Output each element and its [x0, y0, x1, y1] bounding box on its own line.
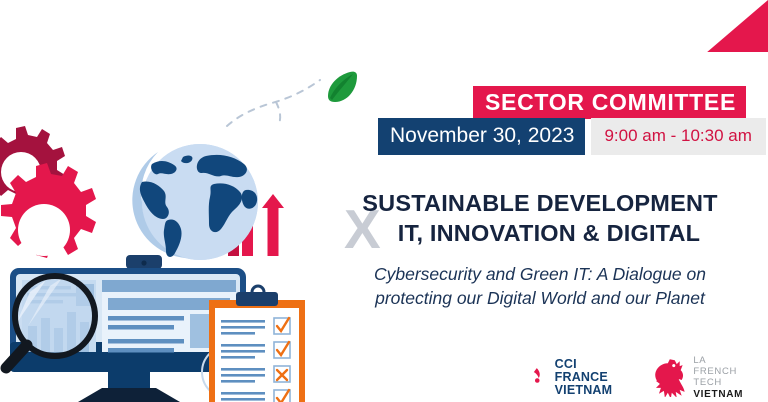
globe-icon	[132, 144, 258, 260]
ft-logo-line-3: VIETNAM	[693, 389, 768, 401]
ft-logo-line-2: FRENCH TECH	[693, 366, 768, 388]
logo-la-french-tech-vietnam: LA FRENCH TECH VIETNAM	[655, 355, 768, 400]
event-time: 9:00 am - 10:30 am	[591, 118, 765, 155]
logo-row: CCI FRANCE VIETNAM LA FRENCH TECH VIETNA…	[518, 355, 768, 400]
sector-committee-label: SECTOR COMMITTEE	[485, 89, 736, 115]
page-title: X SUSTAINABLE DEVELOPMENT IT, INNOVATION…	[330, 188, 750, 248]
cci-c-mark-icon	[518, 363, 548, 393]
rooster-icon	[655, 359, 687, 397]
logo-cci-france-vietnam: CCI FRANCE VIETNAM	[518, 358, 633, 397]
event-datetime: November 30, 2023 9:00 am - 10:30 am	[378, 118, 766, 155]
event-date: November 30, 2023	[378, 118, 585, 155]
corner-wedge-icon	[688, 0, 768, 52]
event-banner: SECTOR COMMITTEE November 30, 2023 9:00 …	[0, 0, 768, 402]
cci-logo-line-2: VIETNAM	[555, 384, 633, 397]
subtitle-line-1: Cybersecurity and Green IT: A Dialogue o…	[330, 262, 750, 286]
clipboard-checklist-icon	[202, 286, 305, 402]
cci-logo-line-1: CCI FRANCE	[555, 358, 633, 384]
sector-committee-banner: SECTOR COMMITTEE	[473, 86, 746, 119]
headline-line-2: IT, INNOVATION & DIGITAL	[330, 218, 750, 248]
event-subtitle: Cybersecurity and Green IT: A Dialogue o…	[330, 262, 750, 310]
illustration	[0, 120, 320, 402]
subtitle-line-2: protecting our Digital World and our Pla…	[330, 286, 750, 310]
leaf-icon	[328, 72, 357, 102]
headline-line-1: SUSTAINABLE DEVELOPMENT	[330, 188, 750, 218]
ft-logo-line-1: LA	[693, 355, 768, 366]
